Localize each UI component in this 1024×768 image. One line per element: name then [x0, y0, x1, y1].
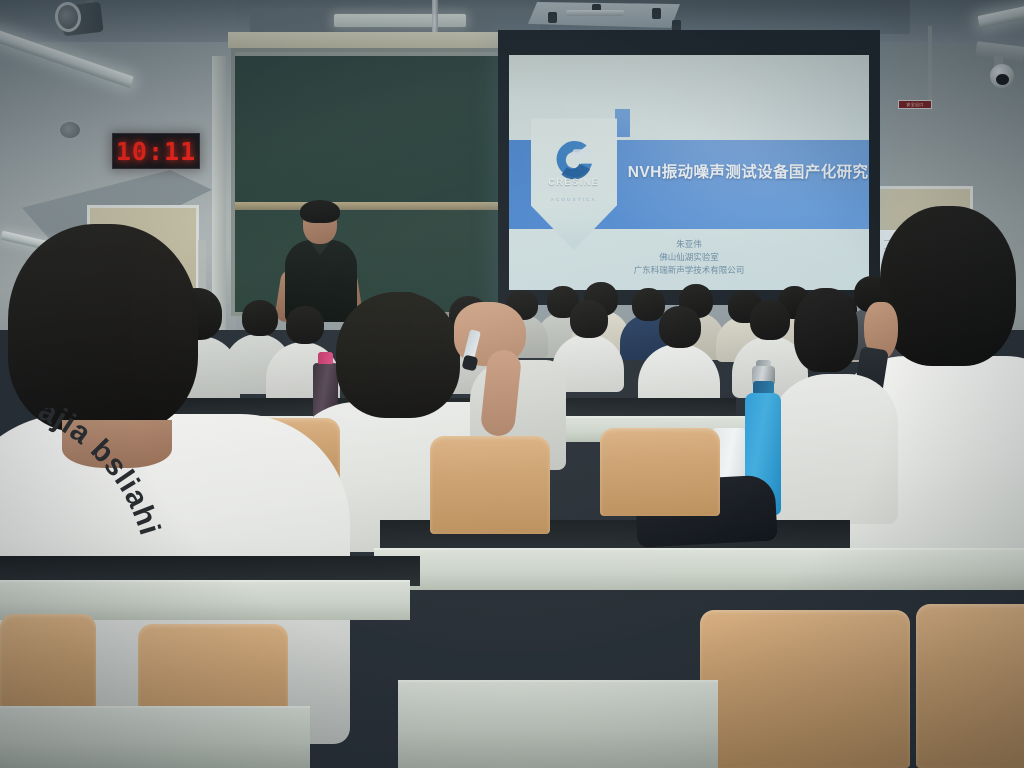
- chair-back: [916, 604, 1024, 768]
- led-wall-clock: 10:11: [112, 133, 200, 169]
- desk: [398, 680, 718, 768]
- audience-head: [659, 306, 701, 348]
- desk: [374, 548, 1024, 590]
- slide-logo-text: CRESINE: [529, 177, 619, 187]
- chalkboard-rail: [235, 202, 515, 210]
- audience-member: [648, 306, 710, 392]
- slide-shield-notch: [615, 109, 629, 137]
- clock-time: 10:11: [116, 137, 196, 166]
- wall-conduit: [928, 26, 932, 106]
- slide-logo-subtext: ACOUSTICA: [529, 197, 619, 202]
- speaker-icon: [58, 120, 82, 140]
- projected-slide: CRESINE ACOUSTICA NVH振动噪声测试设备国产化研究 朱亚伟 佛…: [509, 55, 869, 290]
- slide-subtitle-block: 朱亚伟 佛山仙湖实验室 广东科瑞新声学技术有限公司: [509, 238, 869, 277]
- projector-mount-foot: [548, 12, 557, 23]
- chair-back: [600, 428, 720, 516]
- projector-mount-foot: [652, 8, 661, 19]
- chair-back: [700, 610, 910, 768]
- neck: [62, 420, 172, 468]
- exit-sign: 安全出口: [898, 100, 932, 109]
- camera-lens-icon: [996, 74, 1009, 85]
- chair-back: [430, 436, 550, 534]
- audience-head: [8, 224, 198, 432]
- audience-head: [794, 288, 858, 372]
- slide-affiliation-2: 广东科瑞新声学技术有限公司: [509, 264, 869, 277]
- audience-head: [880, 206, 1016, 366]
- slide-presenter-name: 朱亚伟: [509, 238, 869, 251]
- presenter-hair: [300, 200, 340, 223]
- audience-head: [570, 300, 608, 338]
- cresine-logo-icon: [547, 133, 601, 175]
- audience-member: [782, 288, 868, 498]
- slide-title: NVH振动噪声测试设备国产化研究: [628, 160, 866, 182]
- chalkboard-upper-panel: [235, 56, 515, 202]
- fluorescent-tube-light: [334, 14, 466, 27]
- projector: [566, 10, 624, 16]
- board-top-trim: [228, 32, 524, 48]
- audience-member: [560, 300, 616, 376]
- audience-arm-raised: [440, 300, 560, 450]
- lecture-hall-photo: 安全出口 10:11 CRESINE: [0, 0, 1024, 768]
- slide-affiliation-1: 佛山仙湖实验室: [509, 251, 869, 264]
- audience-torso: [768, 374, 898, 524]
- desk: [0, 706, 310, 768]
